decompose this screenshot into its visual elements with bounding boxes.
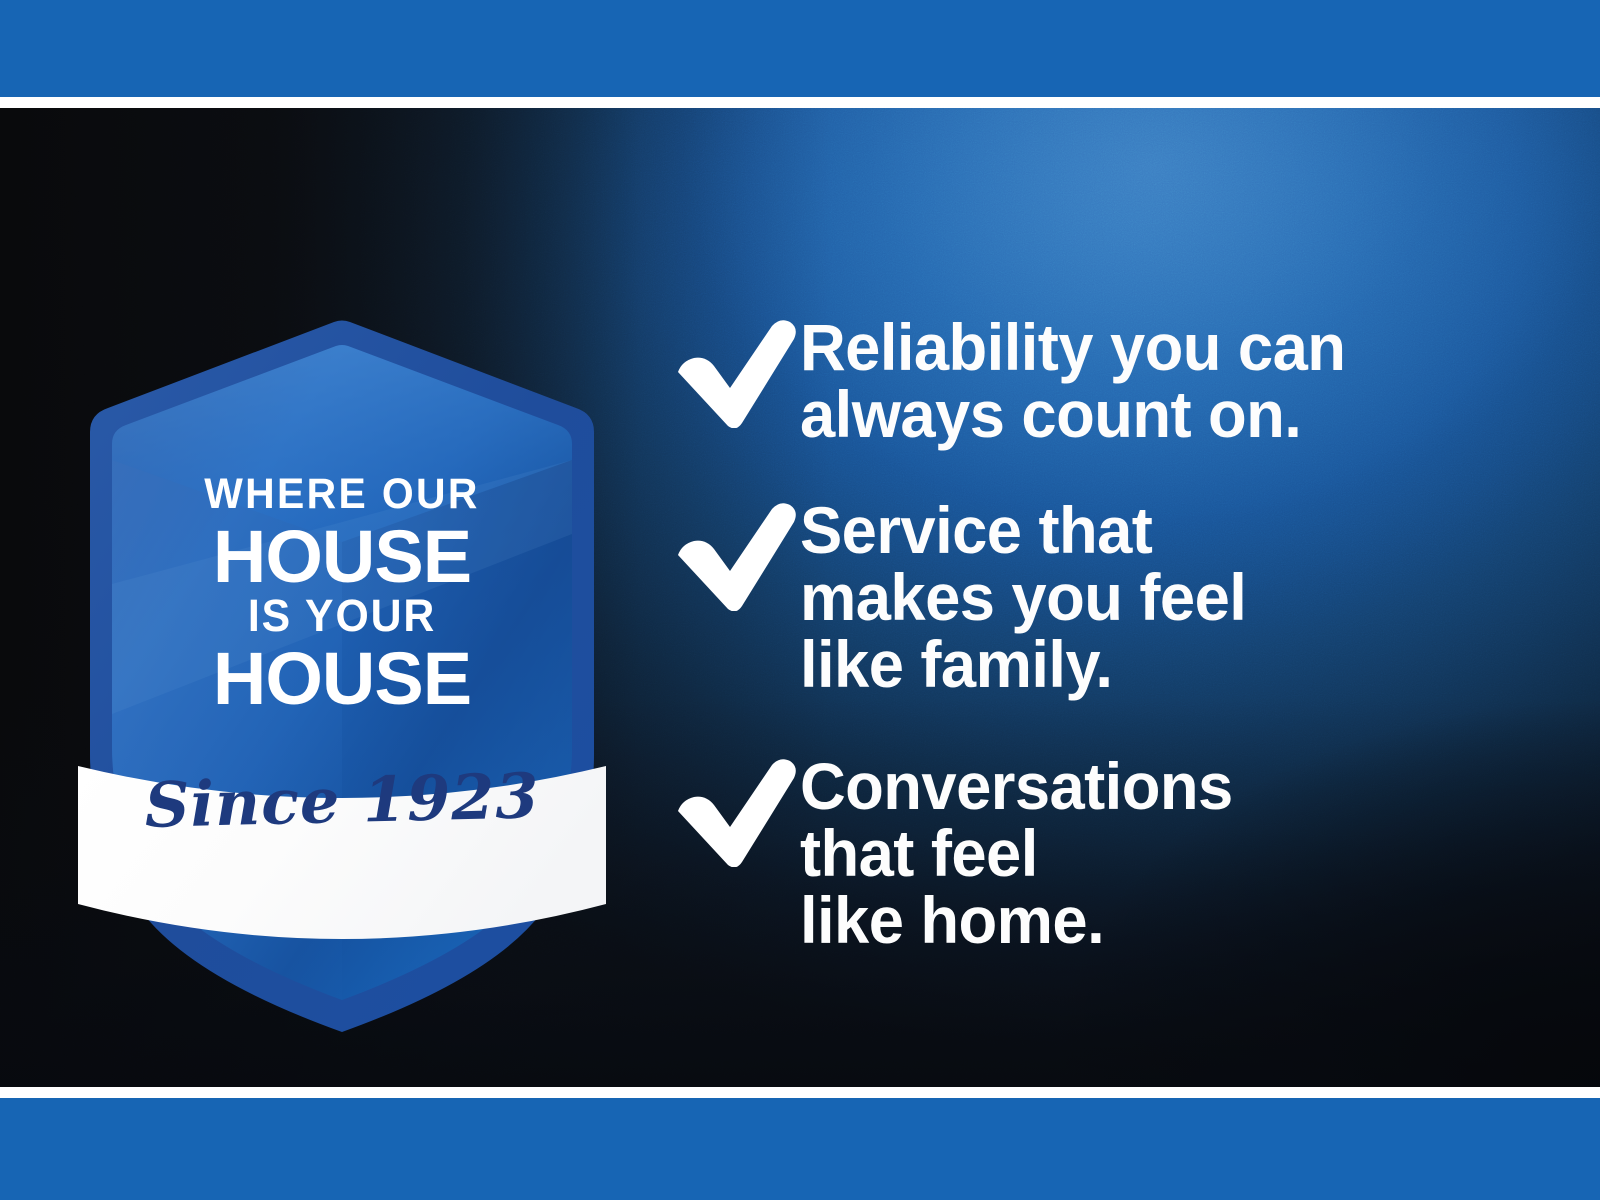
brand-shield-badge: Where Our House Is Your House Since 1923 bbox=[72, 284, 612, 1044]
bottom-accent-band bbox=[0, 1098, 1600, 1200]
shield-ribbon-text: Since 1923 bbox=[71, 757, 613, 843]
benefits-list: Reliability you can always count on. Ser… bbox=[672, 308, 1532, 955]
benefit-item: Service that makes you feel like family. bbox=[672, 491, 1532, 699]
top-divider bbox=[0, 97, 1600, 108]
bottom-divider bbox=[0, 1087, 1600, 1098]
shield-line-3: Is Your bbox=[86, 590, 599, 642]
benefit-item: Reliability you can always count on. bbox=[672, 308, 1532, 449]
shield-line-1: Where Our bbox=[86, 470, 599, 519]
checkmark-icon bbox=[672, 308, 800, 428]
benefit-text: Conversations that feel like home. bbox=[800, 747, 1233, 955]
shield-line-4: House bbox=[72, 636, 612, 721]
benefit-text: Service that makes you feel like family. bbox=[800, 491, 1246, 699]
top-accent-band bbox=[0, 0, 1600, 97]
checkmark-icon bbox=[672, 491, 800, 611]
main-panel: Where Our House Is Your House Since 1923… bbox=[0, 108, 1600, 1087]
shield-line-2: House bbox=[72, 514, 612, 599]
checkmark-icon bbox=[672, 747, 800, 867]
promo-banner: Where Our House Is Your House Since 1923… bbox=[0, 0, 1600, 1200]
benefit-text: Reliability you can always count on. bbox=[800, 308, 1345, 449]
benefit-item: Conversations that feel like home. bbox=[672, 747, 1532, 955]
